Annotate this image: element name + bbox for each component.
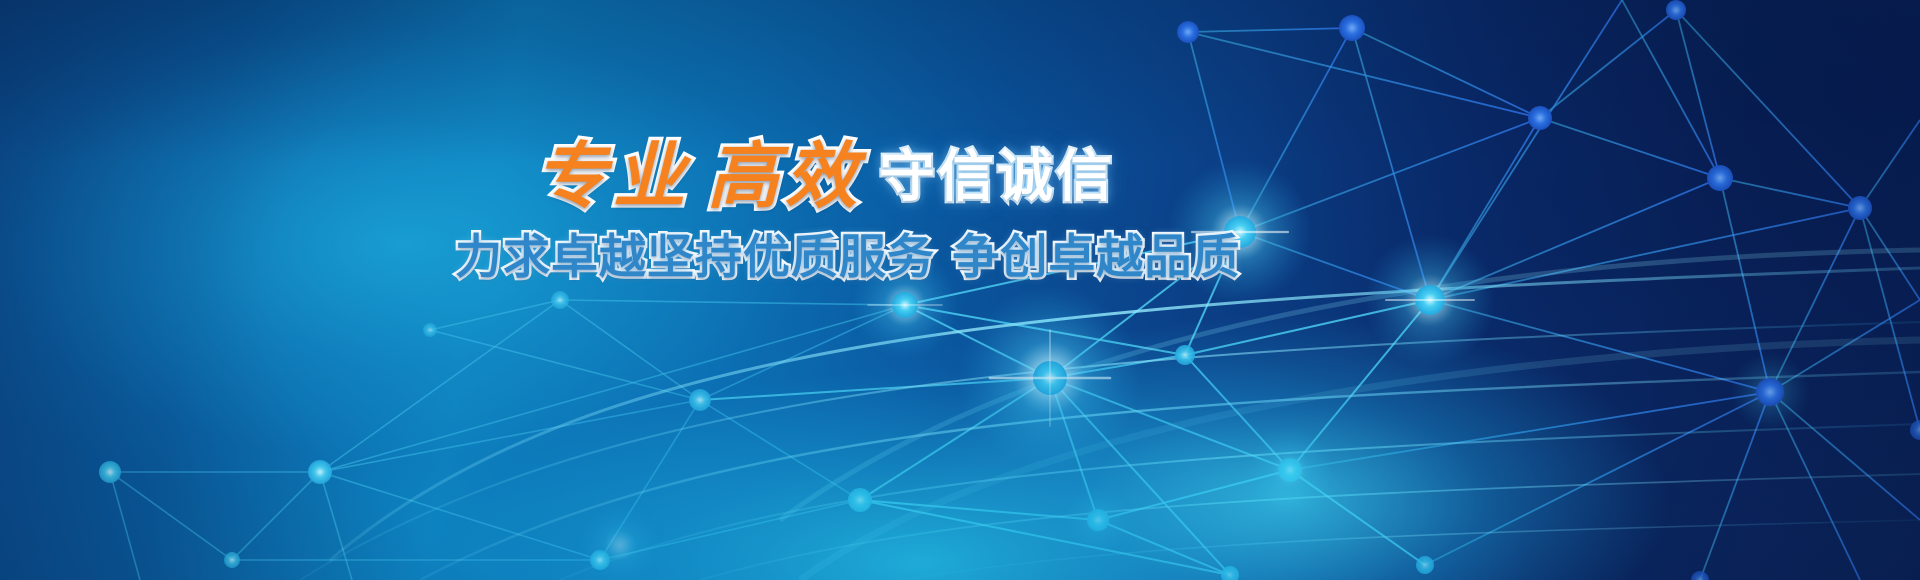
banner-headline: 专业 高效 守信诚信 bbox=[455, 138, 1195, 210]
hero-banner: 专业 高效 守信诚信 力求卓越坚持优质服务 争创卓越品质 bbox=[0, 0, 1920, 580]
banner-copy: 专业 高效 守信诚信 力求卓越坚持优质服务 争创卓越品质 bbox=[455, 138, 1195, 287]
network-constellation-graphic bbox=[0, 0, 1920, 580]
headline-keyword-tertiary: 守信诚信 bbox=[879, 150, 1115, 206]
headline-keyword-secondary: 高效 bbox=[707, 140, 863, 212]
network-nodes bbox=[99, 0, 1920, 580]
banner-subtitle: 力求卓越坚持优质服务 争创卓越品质 bbox=[455, 218, 1195, 287]
headline-keyword-primary: 专业 bbox=[535, 140, 691, 212]
